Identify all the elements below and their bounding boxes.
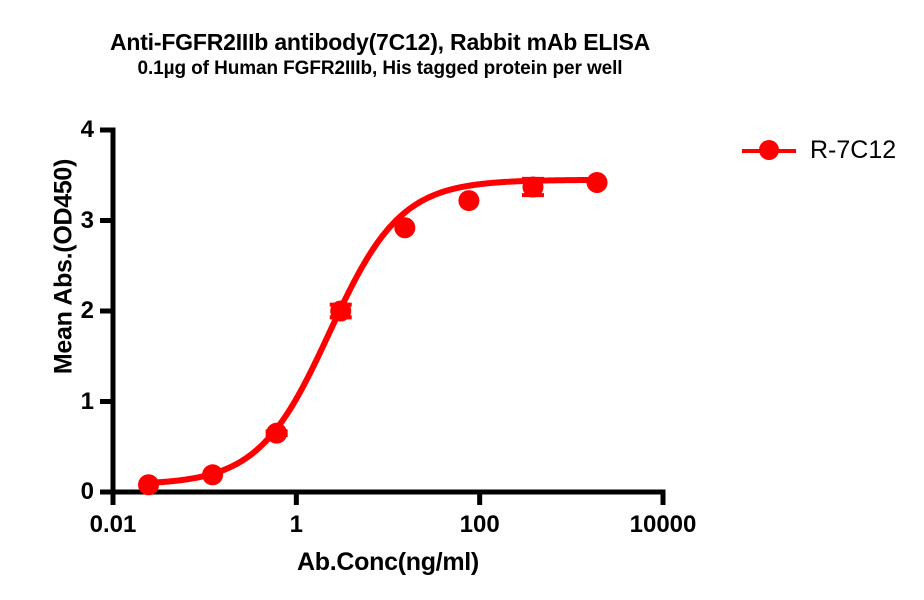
y-tick-label: 4 — [48, 118, 94, 142]
y-tick-label: 1 — [48, 390, 94, 414]
x-tick-label: 1 — [226, 513, 366, 537]
legend: R-7C12 — [742, 138, 896, 163]
fit-curve — [149, 180, 598, 483]
legend-dot-icon — [759, 140, 779, 160]
legend-marker-icon — [742, 140, 796, 162]
elisa-chart-figure: Anti-FGFR2IIIb antibody(7C12), Rabbit mA… — [0, 0, 924, 600]
data-points — [138, 172, 608, 495]
y-tick-label: 3 — [48, 209, 94, 233]
x-tick-label: 100 — [410, 513, 550, 537]
tick-marks — [100, 130, 663, 505]
x-tick-label: 0.01 — [43, 513, 183, 537]
plot-area — [0, 0, 924, 600]
x-tick-label: 10000 — [593, 513, 733, 537]
y-tick-label: 0 — [48, 480, 94, 504]
legend-label: R-7C12 — [810, 138, 896, 163]
y-tick-label: 2 — [48, 299, 94, 323]
